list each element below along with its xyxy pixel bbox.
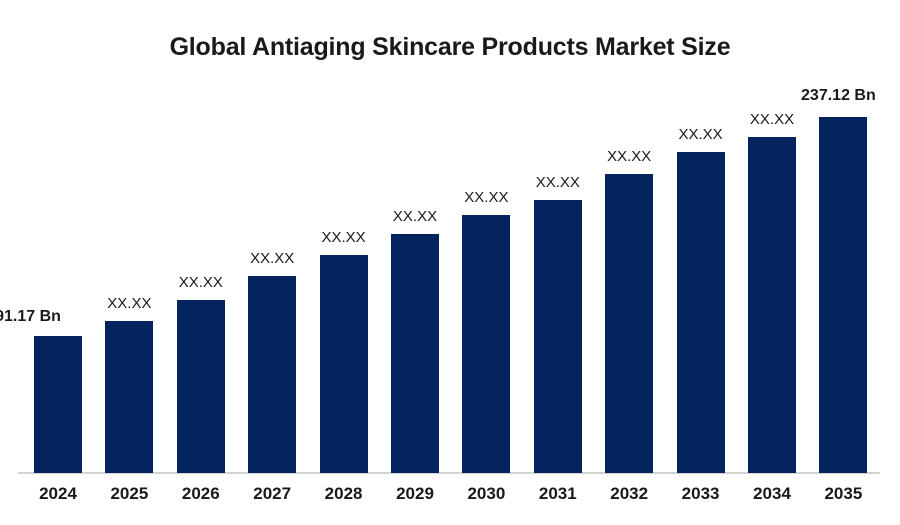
bar-value-label-2027: XX.XX [227,250,317,267]
bar-2028[interactable] [320,255,368,473]
bar-2031[interactable] [534,200,582,473]
bar-2034[interactable] [748,137,796,473]
bar-value-label-2025: XX.XX [84,295,174,312]
bar-2025[interactable] [105,321,153,473]
bar-2027[interactable] [248,276,296,473]
bar-2024[interactable] [34,336,82,473]
plot-area: 91.17 Bn2024XX.XX2025XX.XX2026XX.XX2027X… [0,0,900,525]
bar-value-label-2028: XX.XX [299,229,389,246]
bar-2033[interactable] [677,152,725,473]
bar-value-label-2030: XX.XX [441,189,531,206]
bar-value-label-2031: XX.XX [513,174,603,191]
bar-value-label-2035: 237.12 Bn [793,87,883,105]
bar-value-label-2026: XX.XX [156,274,246,291]
bar-value-label-2024: 91.17 Bn [0,308,73,326]
bar-value-label-2032: XX.XX [584,148,674,165]
x-axis-label-2035: 2035 [798,484,888,504]
chart-container: Global Antiaging Skincare Products Marke… [0,0,900,525]
bar-value-label-2033: XX.XX [656,126,746,143]
bar-2026[interactable] [177,300,225,473]
bar-2032[interactable] [605,174,653,473]
bar-2035[interactable] [819,117,867,473]
bar-value-label-2029: XX.XX [370,208,460,225]
bar-value-label-2034: XX.XX [727,111,817,128]
bar-2030[interactable] [462,215,510,473]
bar-2029[interactable] [391,234,439,473]
